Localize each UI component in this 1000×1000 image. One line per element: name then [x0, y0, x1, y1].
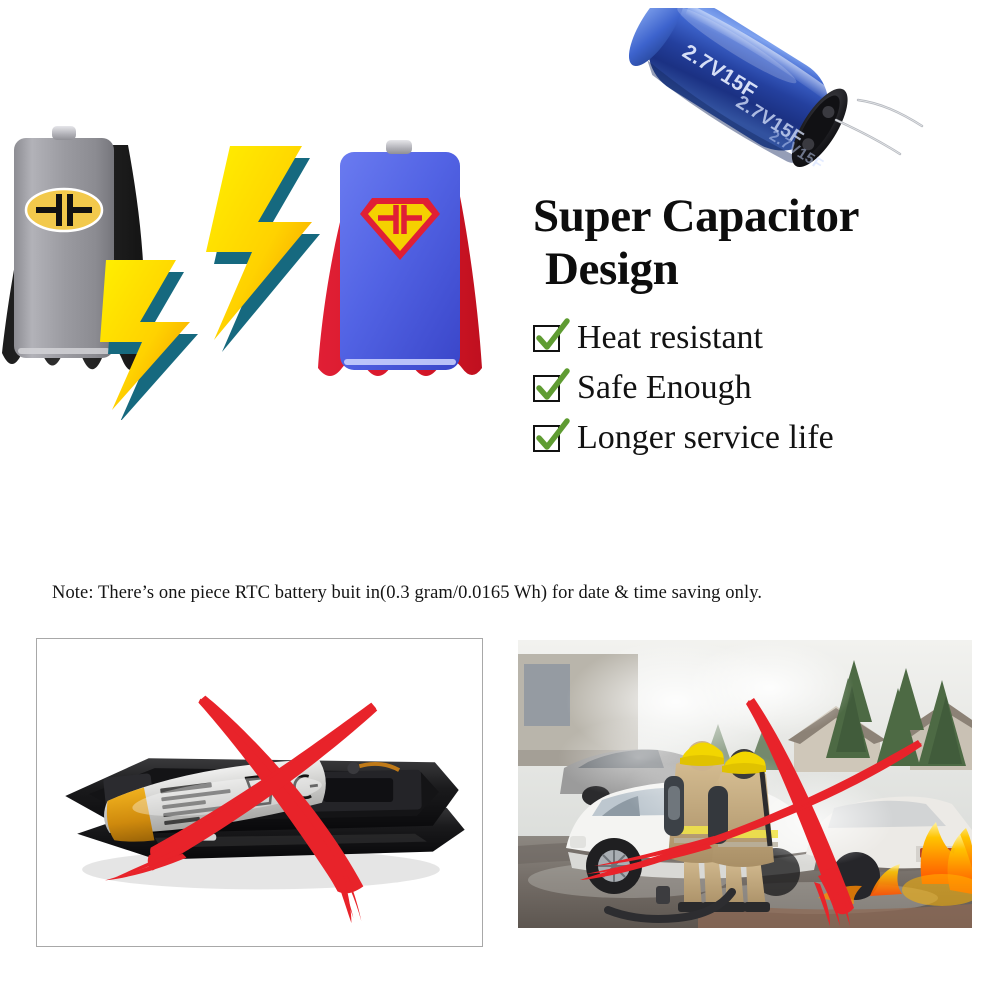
page-title: Super Capacitor Design — [533, 190, 983, 295]
headline-line-1: Super Capacitor — [533, 190, 859, 242]
swollen-battery-photo — [36, 638, 483, 947]
capacitor-leads — [836, 100, 922, 154]
feature-column: Super Capacitor Design Heat resistant — [533, 190, 983, 463]
feature-item: Heat resistant — [533, 313, 983, 363]
car-fire-photo — [518, 640, 972, 928]
feature-item: Safe Enough — [533, 363, 983, 413]
supercapacitor-photo: 2.7V15F 2.7V15F 2.7V15F — [600, 8, 940, 188]
infographic-canvas: 2.7V15F 2.7V15F 2.7V15F — [0, 0, 1000, 1000]
feature-label: Safe Enough — [577, 371, 752, 405]
feature-item: Longer service life — [533, 413, 983, 463]
feature-list: Heat resistant Safe Enough Longer servic… — [533, 313, 983, 463]
checkbox-checked-icon — [533, 375, 560, 402]
headline-line-2: Design — [533, 243, 983, 296]
rtc-battery-note: Note: There’s one piece RTC battery buit… — [52, 583, 762, 604]
feature-label: Longer service life — [577, 421, 834, 455]
capacitor-emblem-yellow — [26, 189, 102, 231]
blue-battery-hero — [318, 140, 482, 376]
feature-label: Heat resistant — [577, 321, 763, 355]
hero-illustration — [0, 110, 540, 420]
checkbox-checked-icon — [533, 325, 560, 352]
checkbox-checked-icon — [533, 425, 560, 452]
